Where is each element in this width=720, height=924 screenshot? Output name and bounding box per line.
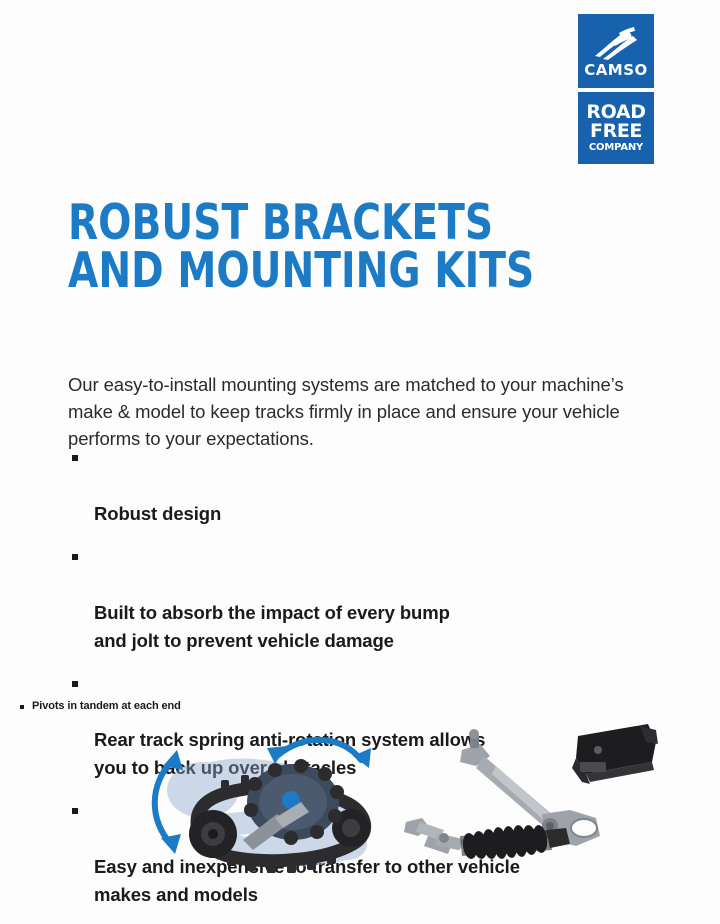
intro-paragraph: Our easy-to-install mounting systems are… — [68, 371, 628, 452]
square-bullet-icon — [72, 455, 78, 461]
badge-line-road: ROAD — [586, 103, 645, 121]
badge-line-free: FREE — [590, 122, 642, 140]
list-item: Robust design — [68, 444, 628, 528]
list-item-label: Built to absorb the impact of every bump… — [94, 602, 450, 651]
square-bullet-icon — [20, 705, 24, 709]
list-item: Built to absorb the impact of every bump… — [68, 543, 628, 655]
square-bullet-icon — [72, 554, 78, 560]
brand-logo-stack: CAMSO ROAD FREE COMPANY — [578, 14, 654, 164]
footnote: Pivots in tandem at each end — [18, 700, 181, 712]
road-free-company-badge: ROAD FREE COMPANY — [578, 92, 654, 164]
illustration-area — [0, 718, 720, 908]
page-title: ROBUST BRACKETS AND MOUNTING KITS — [68, 199, 534, 295]
list-item-label: Robust design — [94, 503, 221, 524]
rubber-track-system-icon — [125, 718, 395, 898]
footnote-label: Pivots in tandem at each end — [32, 700, 181, 712]
camso-wordmark: CAMSO — [584, 63, 648, 78]
mounting-bracket-icon — [572, 724, 658, 784]
badge-line-company: COMPANY — [589, 143, 643, 153]
mounting-hardware-group — [400, 718, 700, 898]
camso-logo-badge: CAMSO — [578, 14, 654, 88]
camso-mountain-mark-icon — [593, 26, 639, 60]
square-bullet-icon — [72, 681, 78, 687]
